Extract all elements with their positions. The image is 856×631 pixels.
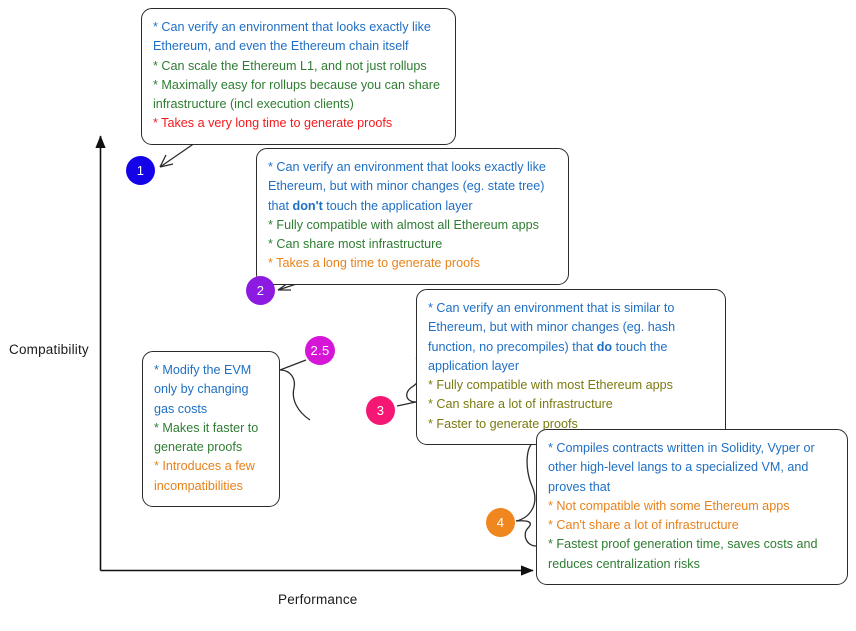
data-point-marker-1[interactable]: 1 (126, 156, 155, 185)
callout-25-line-1: * Modify the EVM only by changing gas co… (154, 361, 268, 419)
data-point-marker-4[interactable]: 4 (486, 508, 515, 537)
callout-3-line-1-emphasis: do (597, 340, 612, 354)
connector-box25-arrow (280, 360, 306, 370)
connector-box4-to-marker4 (516, 442, 536, 521)
connector-box4-arrow2 (516, 521, 536, 546)
callout-2-line-1: * Can verify an environment that looks e… (268, 158, 557, 216)
callout-1-line-4: * Takes a very long time to generate pro… (153, 114, 444, 133)
callout-3-line-1: * Can verify an environment that is simi… (428, 299, 714, 376)
callout-box-type-3[interactable]: * Can verify an environment that is simi… (416, 289, 726, 445)
callout-25-line-3: * Introduces a few incompatibilities (154, 457, 268, 496)
diagram-canvas: Compatibility Performance * Can verify a… (0, 0, 856, 631)
callout-box-type-4[interactable]: * Compiles contracts written in Solidity… (536, 429, 848, 585)
connector-box25-to-marker25 (280, 370, 310, 420)
callout-4-line-1: * Compiles contracts written in Solidity… (548, 439, 836, 497)
callout-box-type-1[interactable]: * Can verify an environment that looks e… (141, 8, 456, 145)
callout-4-line-2: * Not compatible with some Ethereum apps (548, 497, 836, 516)
callout-2-line-3: * Can share most infrastructure (268, 235, 557, 254)
callout-4-line-3: * Can't share a lot of infrastructure (548, 516, 836, 535)
callout-3-line-2: * Fully compatible with most Ethereum ap… (428, 376, 714, 395)
y-axis-label: Compatibility (9, 342, 89, 357)
callout-25-line-2: * Makes it faster to generate proofs (154, 419, 268, 458)
connector-box3-arrow (397, 402, 416, 406)
callout-3-line-3: * Can share a lot of infrastructure (428, 395, 714, 414)
callout-1-line-2: * Can scale the Ethereum L1, and not jus… (153, 57, 444, 76)
callout-1-line-3: * Maximally easy for rollups because you… (153, 76, 444, 115)
data-point-marker-3[interactable]: 3 (366, 396, 395, 425)
callout-box-type-2-5[interactable]: * Modify the EVM only by changing gas co… (142, 351, 280, 507)
callout-2-line-1c: touch the application layer (323, 199, 473, 213)
data-point-marker-2-5[interactable]: 2.5 (305, 336, 335, 365)
x-axis-label: Performance (278, 592, 357, 607)
callout-1-line-1: * Can verify an environment that looks e… (153, 18, 444, 57)
callout-2-line-1-emphasis: don't (293, 199, 323, 213)
callout-4-line-4: * Fastest proof generation time, saves c… (548, 535, 836, 574)
connector-box1-arrowhead (160, 155, 173, 167)
callout-box-type-2[interactable]: * Can verify an environment that looks e… (256, 148, 569, 285)
callout-2-line-2: * Fully compatible with almost all Ether… (268, 216, 557, 235)
callout-2-line-4: * Takes a long time to generate proofs (268, 254, 557, 273)
data-point-marker-2[interactable]: 2 (246, 276, 275, 305)
